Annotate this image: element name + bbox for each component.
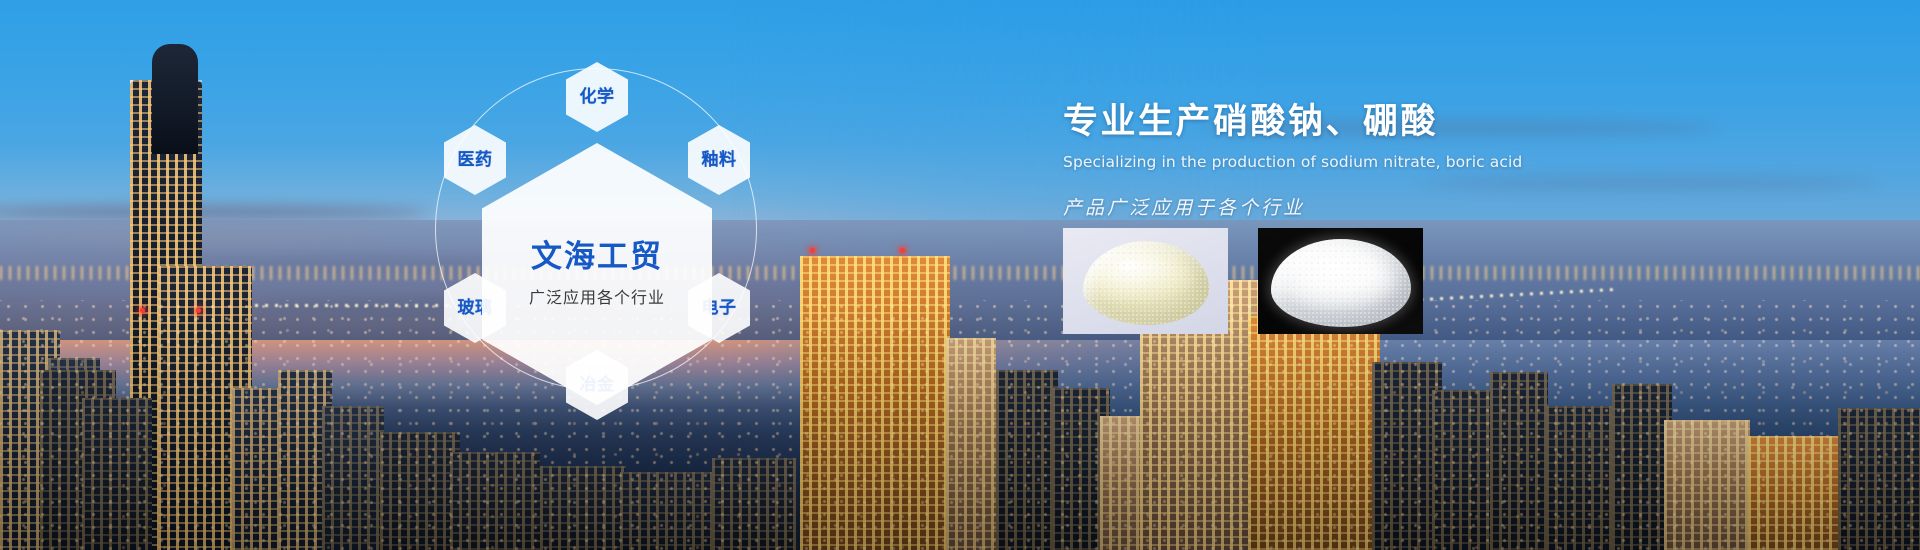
product-photo-strip	[1063, 228, 1423, 334]
powder-grain-texture	[1083, 241, 1209, 325]
aviation-light	[140, 308, 145, 313]
hex-node-label: 化学	[580, 89, 615, 106]
skyscraper-crown	[152, 44, 198, 154]
aviation-light	[196, 308, 201, 313]
far-shore-lights	[0, 266, 1920, 280]
aviation-light	[900, 248, 905, 253]
city-light-haze	[0, 300, 1920, 550]
aviation-light	[810, 248, 815, 253]
product-photo-sodium-nitrate[interactable]	[1063, 228, 1228, 334]
powder-pile	[1083, 241, 1209, 325]
cityscape	[0, 220, 1920, 550]
hex-node-label: 医药	[458, 152, 493, 169]
hex-node-label: 釉料	[702, 152, 737, 169]
powder-pile	[1271, 239, 1411, 327]
headline: 专业生产硝酸钠、硼酸	[1063, 101, 1843, 145]
promo-copy: 专业生产硝酸钠、硼酸 Specializing in the productio…	[1063, 101, 1843, 220]
product-photo-boric-acid[interactable]	[1258, 228, 1423, 334]
company-slogan: 广泛应用各个行业	[529, 284, 665, 308]
promo-banner: 化学 釉料 电子 冶金 玻璃 医药 文海工贸 广泛应用各个行业 专业生产硝酸钠、…	[0, 0, 1920, 550]
tagline: 产品广泛应用于各个行业	[1063, 193, 1843, 220]
company-name: 文海工贸	[531, 240, 663, 274]
industry-hex-diagram: 化学 釉料 电子 冶金 玻璃 医药 文海工贸 广泛应用各个行业	[425, 25, 770, 450]
powder-grain-texture	[1271, 239, 1411, 327]
subheadline-english: Specializing in the production of sodium…	[1063, 153, 1843, 171]
